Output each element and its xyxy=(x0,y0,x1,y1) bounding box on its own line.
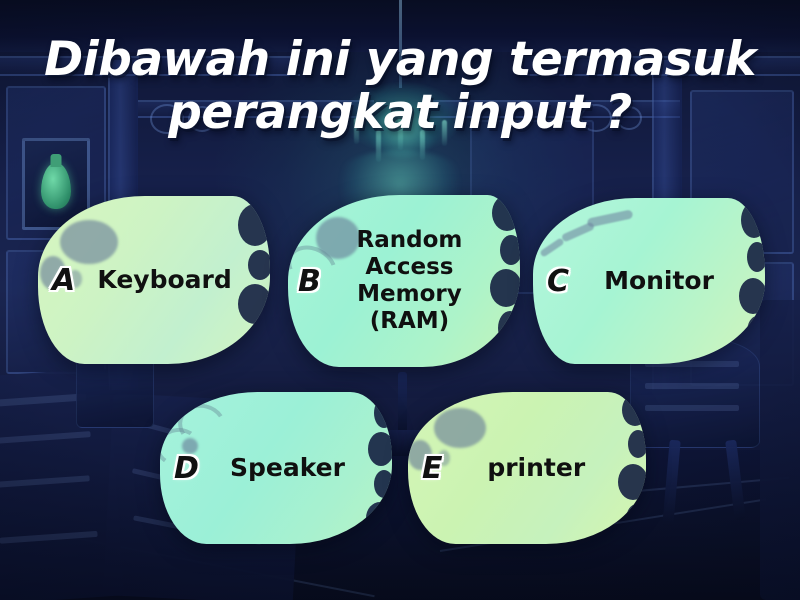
answer-option-e[interactable]: E printer xyxy=(408,392,646,544)
answer-content-b: B Random Access Memory (RAM) xyxy=(288,195,520,367)
furniture-slat xyxy=(0,531,98,544)
furniture-slat xyxy=(0,393,86,407)
answer-letter-d: D xyxy=(160,451,199,486)
furniture-slat xyxy=(645,405,739,411)
center-table-leg xyxy=(398,372,407,438)
furniture-slat xyxy=(0,431,91,444)
answer-content-a: A Keyboard xyxy=(38,196,270,364)
answer-label-c: Monitor xyxy=(569,266,765,296)
answer-label-d: Speaker xyxy=(199,453,392,483)
answer-content-c: C Monitor xyxy=(533,198,765,364)
furniture-slat xyxy=(0,475,90,487)
answer-option-d[interactable]: D Speaker xyxy=(160,392,392,544)
answer-option-a[interactable]: A Keyboard xyxy=(38,196,270,364)
question-title: Dibawah ini yang termasuk perangkat inpu… xyxy=(0,34,800,139)
answer-letter-a: A xyxy=(38,263,75,298)
furniture-slat xyxy=(645,383,739,389)
answer-content-d: D Speaker xyxy=(160,392,392,544)
answer-option-b[interactable]: B Random Access Memory (RAM) xyxy=(288,195,520,367)
answer-label-b: Random Access Memory (RAM) xyxy=(321,227,520,336)
quiz-slide: Dibawah ini yang termasuk perangkat inpu… xyxy=(0,0,800,600)
answer-letter-b: B xyxy=(288,264,321,299)
question-line-2: perangkat input ? xyxy=(24,87,776,140)
answer-content-e: E printer xyxy=(408,392,646,544)
answer-letter-e: E xyxy=(408,451,443,486)
answer-option-c[interactable]: C Monitor xyxy=(533,198,765,364)
answer-letter-c: C xyxy=(533,264,569,299)
furniture-silhouette-right xyxy=(760,300,800,600)
answer-label-e: printer xyxy=(443,453,647,483)
answer-label-a: Keyboard xyxy=(75,265,270,295)
question-line-1: Dibawah ini yang termasuk xyxy=(24,34,776,87)
